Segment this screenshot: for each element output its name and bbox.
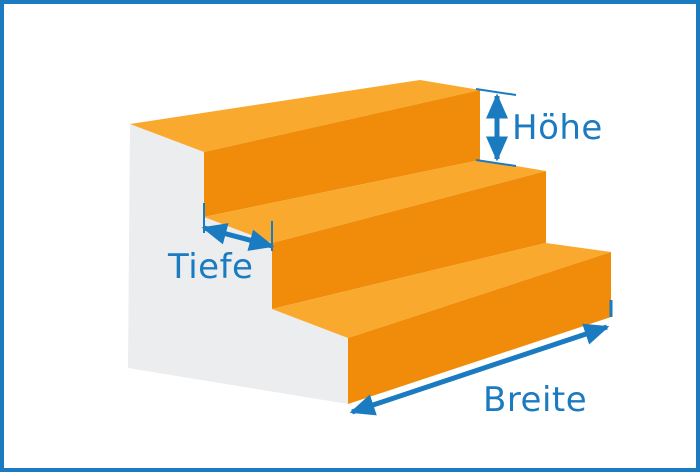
diagram-canvas: Höhe Tiefe Breite [0,0,700,472]
dimension-label-breite: Breite [483,380,587,420]
dimension-label-tiefe: Tiefe [167,247,253,287]
hoehe-extension-line-top [476,89,516,95]
dimension-hoehe: Höhe [476,89,603,166]
dimension-label-hoehe: Höhe [512,108,603,148]
staircase-dimension-diagram: Höhe Tiefe Breite [0,0,700,472]
